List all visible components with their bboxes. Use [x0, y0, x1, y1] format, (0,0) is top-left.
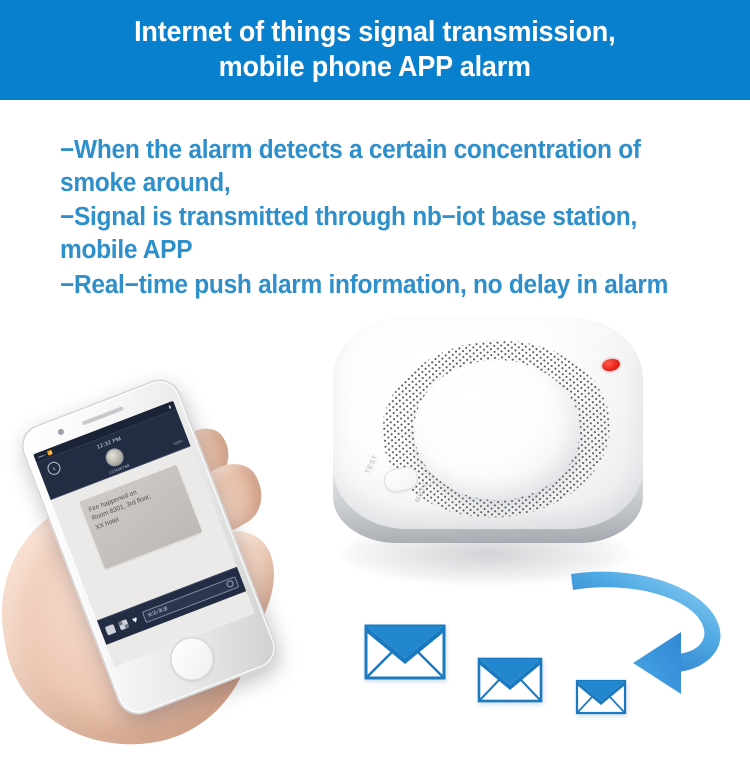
- back-arrow-icon[interactable]: ‹: [46, 460, 63, 477]
- heart-icon[interactable]: ♥: [131, 615, 139, 625]
- bullet-item-1: −When the alarm detects a certain concen…: [60, 134, 674, 200]
- product-scene: ▪▪▪▫▫ 📶 ▮ ‹ 12:32 PM 123456788 100% Fire…: [0, 300, 750, 750]
- battery-percent: 100%: [173, 439, 183, 446]
- microphone-icon[interactable]: [226, 579, 235, 588]
- camera-icon[interactable]: [105, 624, 117, 636]
- header-banner: Internet of things signal transmission, …: [0, 0, 750, 100]
- hand-holding-phone: ▪▪▪▫▫ 📶 ▮ ‹ 12:32 PM 123456788 100% Fire…: [0, 375, 325, 755]
- page-title: Internet of things signal transmission, …: [134, 15, 615, 86]
- message-input[interactable]: 说话/发送: [142, 576, 239, 623]
- bullet-item-3: −Real−time push alarm information, no de…: [60, 269, 674, 302]
- envelope-icon-medium: [477, 656, 543, 704]
- feature-bullet-list: −When the alarm detects a certain concen…: [60, 134, 700, 303]
- smoke-detector-device: TEST MUTE: [315, 305, 655, 605]
- battery-icon: ▮: [168, 404, 172, 410]
- signal-flow-arrow: [555, 568, 745, 698]
- envelope-icon-large: [364, 622, 446, 682]
- gallery-icon[interactable]: [118, 619, 130, 631]
- message-input-placeholder: 说话/发送: [147, 605, 169, 618]
- alarm-message-text: Fire happened on Room 8301, 3rd floor, X…: [87, 473, 183, 532]
- device-center-dome: [414, 360, 580, 500]
- bullet-item-2: −Signal is transmitted through nb−iot ba…: [60, 201, 674, 267]
